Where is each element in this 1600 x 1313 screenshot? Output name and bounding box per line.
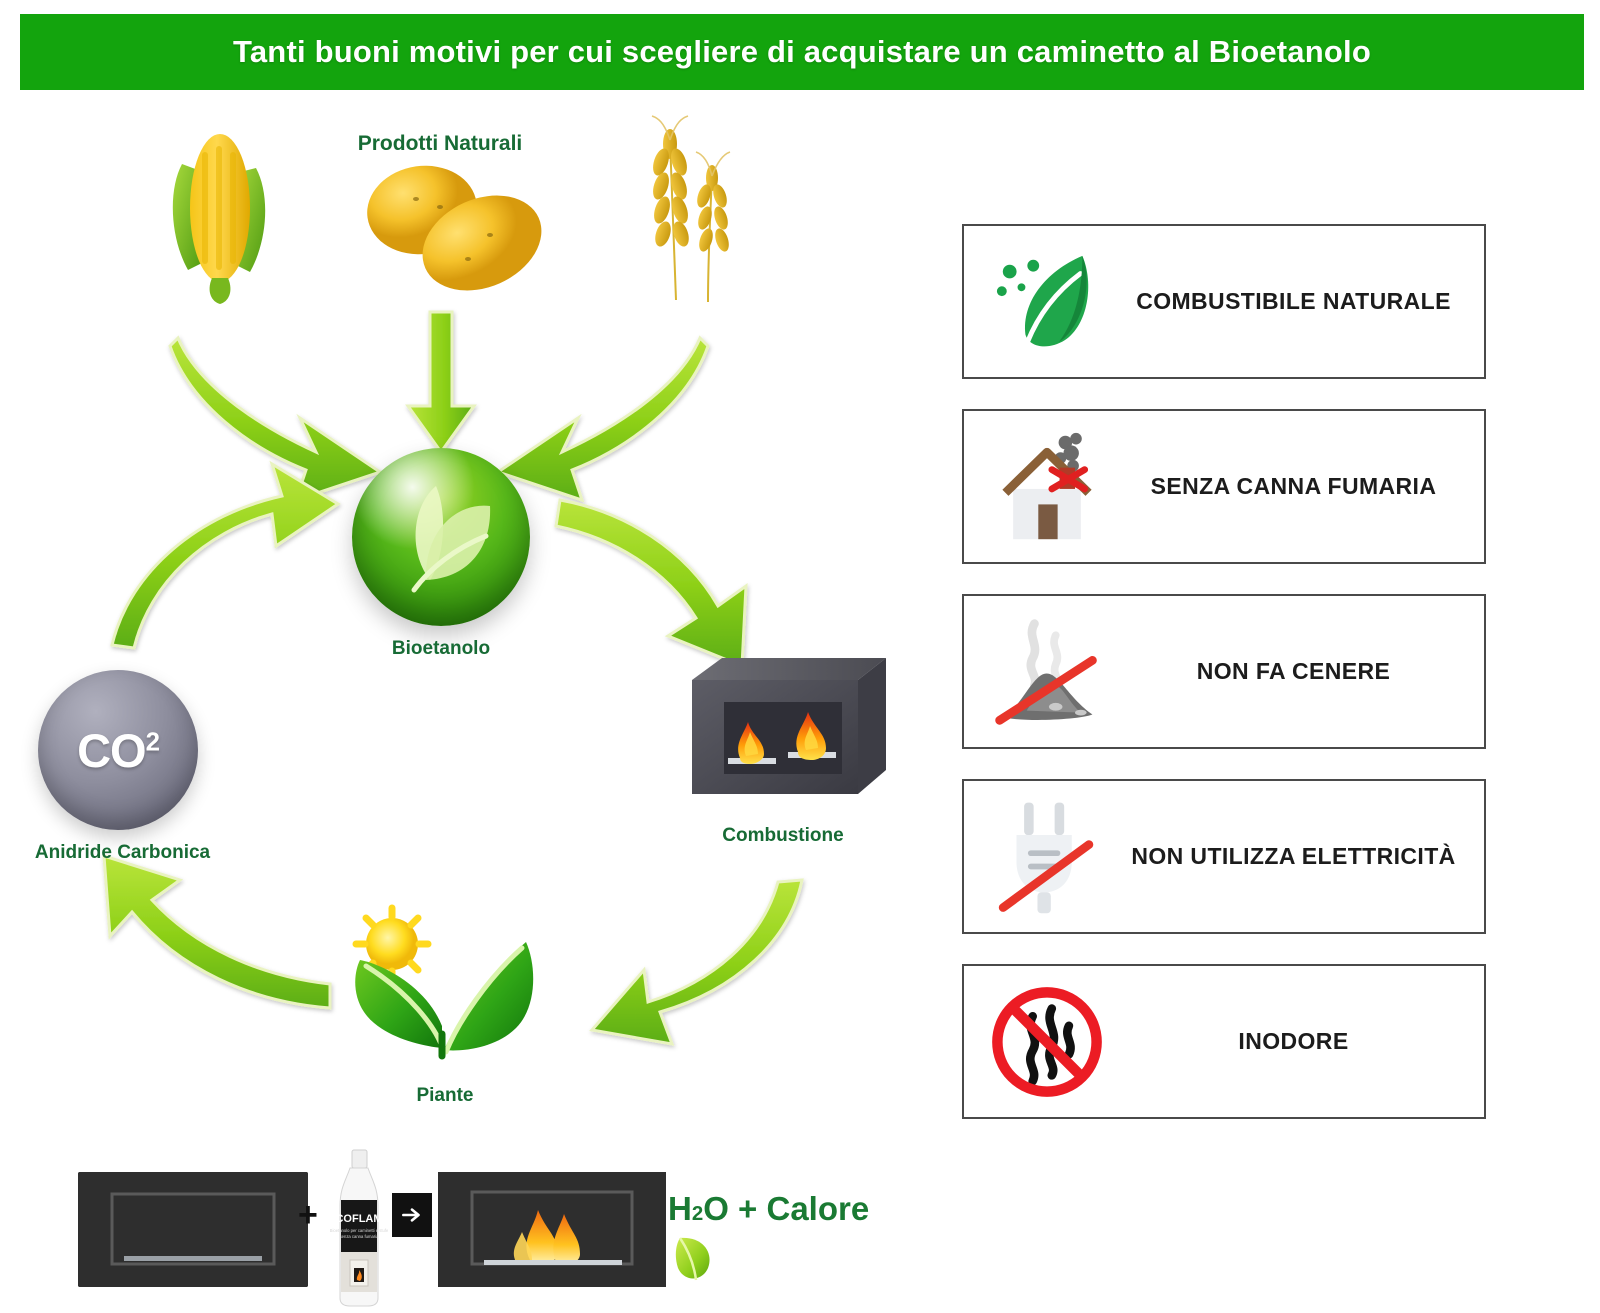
benefit-panel-non-fa-cenere[interactable]: NON FA CENERE: [962, 594, 1486, 749]
benefit-label: INODORE: [1129, 1026, 1484, 1057]
result-subscript: 2: [692, 1202, 703, 1225]
benefit-label: SENZA CANNA FUMARIA: [1129, 471, 1484, 502]
result-prefix: H: [668, 1190, 692, 1227]
benefit-panel-inodore[interactable]: INODORE: [962, 964, 1486, 1119]
piante-to-co2-arrow: [104, 856, 330, 1008]
co2-formula: CO2: [77, 727, 159, 774]
fireplace-burning-icon: [678, 648, 890, 808]
label-bioetanolo: Bioetanolo: [352, 638, 530, 660]
co2-to-bioetanolo-arrow: [112, 464, 338, 648]
benefit-label: NON UTILIZZA ELETTRICITÀ: [1129, 841, 1484, 872]
label-combustione: Combustione: [668, 825, 898, 847]
plus-operator: +: [298, 1196, 318, 1235]
arrow-right-icon: [392, 1193, 432, 1237]
benefits-list: COMBUSTIBILE NATURALE SENZA CANNA FUMARI…: [962, 224, 1486, 1149]
node-anidride-carbonica: CO2: [38, 670, 198, 830]
benefit-label: COMBUSTIBILE NATURALE: [1129, 286, 1484, 317]
fireplace-on-icon: [438, 1172, 666, 1287]
result-suffix: O + Calore: [703, 1190, 869, 1227]
label-anidride-carbonica: Anidride Carbonica: [0, 842, 245, 864]
svg-text:Bioetanolo per caminetti e stu: Bioetanolo per caminetti e stufe: [330, 1228, 388, 1233]
ash-pile-crossed-icon: [964, 607, 1129, 737]
benefit-label: NON FA CENERE: [1129, 656, 1484, 687]
svg-text:senza canna fumaria: senza canna fumaria: [340, 1234, 380, 1239]
header-banner: Tanti buoni motivi per cui scegliere di …: [20, 14, 1584, 90]
page-title: Tanti buoni motivi per cui scegliere di …: [233, 34, 1371, 70]
power-plug-crossed-icon: [964, 792, 1129, 922]
node-bioetanolo: [352, 448, 530, 626]
potatoes-to-bioetanolo-arrow: [408, 312, 474, 452]
wheat-icon: [630, 114, 750, 314]
combustione-to-piante-arrow: [592, 880, 802, 1044]
benefit-panel-non-utilizza-elettricita[interactable]: NON UTILIZZA ELETTRICITÀ: [962, 779, 1486, 934]
house-no-chimney-icon: [964, 422, 1129, 552]
label-piante: Piante: [345, 1085, 545, 1107]
svg-text:ECOFLAME: ECOFLAME: [330, 1213, 388, 1225]
bioethanol-cycle-diagram: Prodotti Naturali Bioetanolo CO2 Anidrid…: [0, 100, 950, 1140]
co2-sphere-icon: CO2: [38, 670, 198, 830]
benefit-panel-combustibile-naturale[interactable]: COMBUSTIBILE NATURALE: [962, 224, 1486, 379]
no-smell-icon: [964, 977, 1129, 1107]
green-sphere-leaves-icon: [352, 448, 530, 626]
corn-icon: [160, 120, 280, 310]
bioethanol-bottle-icon: ECOFLAME Bioetanolo per caminetti e stuf…: [330, 1148, 388, 1308]
fireplace-off-icon: [78, 1172, 308, 1287]
bioetanolo-to-combustione-arrow: [556, 500, 746, 666]
potatoes-icon: [350, 155, 560, 300]
green-leaf-icon: [672, 1232, 716, 1284]
leaf-bubbles-icon: [964, 237, 1129, 367]
corn-to-bioetanolo-arrow: [170, 338, 380, 500]
result-formula: H2O + Calore: [668, 1190, 869, 1228]
label-prodotti-naturali: Prodotti Naturali: [300, 132, 580, 156]
benefit-panel-senza-canna-fumaria[interactable]: SENZA CANNA FUMARIA: [962, 409, 1486, 564]
sun-leaves-icon: [330, 900, 560, 1060]
